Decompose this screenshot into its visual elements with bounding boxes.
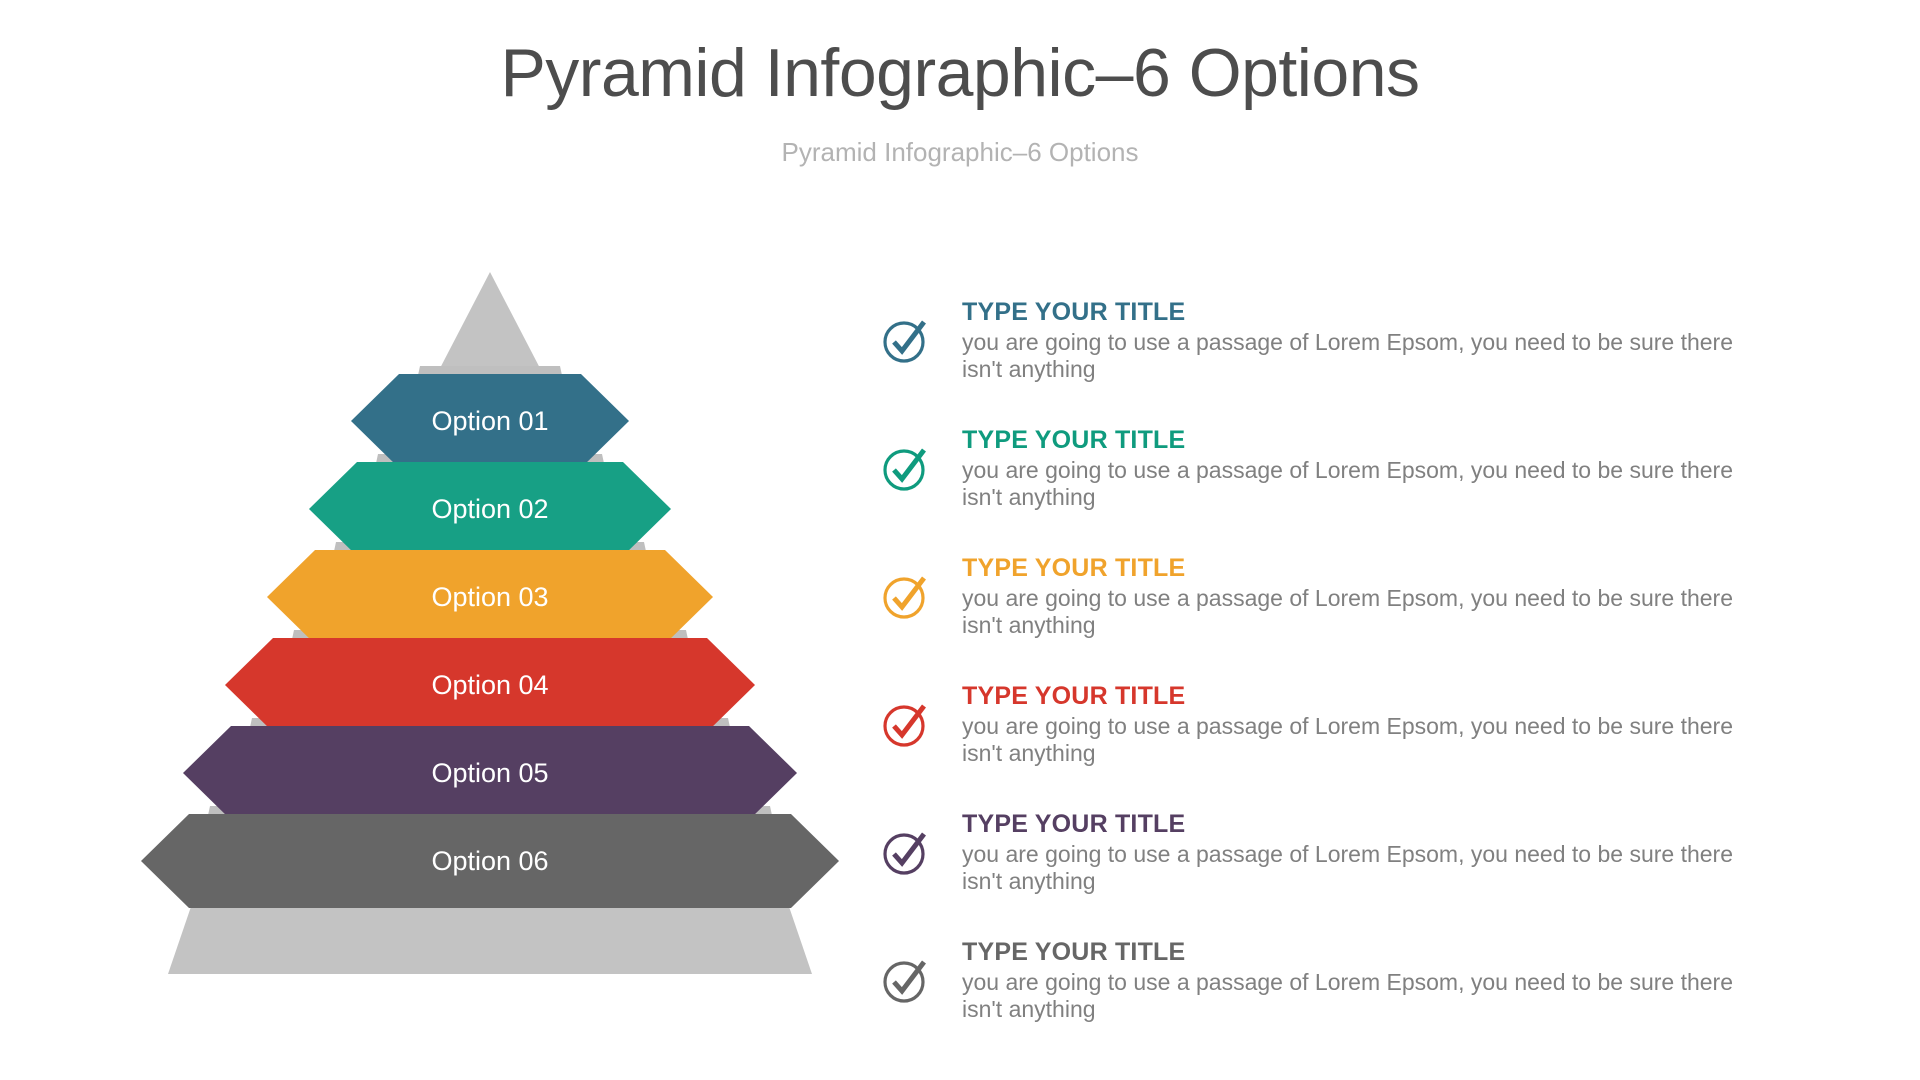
list-item-desc: you are going to use a passage of Lorem …	[962, 969, 1752, 1023]
svg-text:Option 03: Option 03	[431, 582, 548, 612]
pyramid-apex	[437, 272, 543, 374]
list-item-text: TYPE YOUR TITLE you are going to use a p…	[952, 425, 1752, 512]
pyramid-pane: Option 01 Option 02 Option 03 Option 04	[0, 262, 860, 1062]
list-item-desc: you are going to use a passage of Lorem …	[962, 841, 1752, 895]
list-item-title: TYPE YOUR TITLE	[962, 553, 1752, 584]
list-item-desc: you are going to use a passage of Lorem …	[962, 713, 1752, 767]
svg-text:Option 06: Option 06	[431, 846, 548, 876]
pyramid-bars: Option 01 Option 02 Option 03 Option 04	[141, 374, 839, 908]
list-item-desc: you are going to use a passage of Lorem …	[962, 585, 1752, 639]
list-item-text: TYPE YOUR TITLE you are going to use a p…	[952, 681, 1752, 768]
pyramid-level-2[interactable]: Option 02	[309, 462, 671, 556]
list-item[interactable]: TYPE YOUR TITLE you are going to use a p…	[860, 660, 1860, 788]
slide-body: Option 01 Option 02 Option 03 Option 04	[0, 262, 1920, 1062]
svg-text:Option 04: Option 04	[431, 670, 548, 700]
list-item[interactable]: TYPE YOUR TITLE you are going to use a p…	[860, 276, 1860, 404]
list-item-title: TYPE YOUR TITLE	[962, 297, 1752, 328]
list-item-title: TYPE YOUR TITLE	[962, 425, 1752, 456]
check-circle-icon	[860, 824, 952, 880]
page-title: Pyramid Infographic–6 Options	[0, 36, 1920, 111]
list-item-title: TYPE YOUR TITLE	[962, 681, 1752, 712]
list-item-text: TYPE YOUR TITLE you are going to use a p…	[952, 297, 1752, 384]
list-item[interactable]: TYPE YOUR TITLE you are going to use a p…	[860, 404, 1860, 532]
list-item[interactable]: TYPE YOUR TITLE you are going to use a p…	[860, 788, 1860, 916]
pyramid-chart: Option 01 Option 02 Option 03 Option 04	[0, 262, 860, 1022]
list-item-text: TYPE YOUR TITLE you are going to use a p…	[952, 937, 1752, 1024]
list-item-text: TYPE YOUR TITLE you are going to use a p…	[952, 553, 1752, 640]
pyramid-level-6[interactable]: Option 06	[141, 814, 839, 908]
svg-text:Option 02: Option 02	[431, 494, 548, 524]
pyramid-level-5[interactable]: Option 05	[183, 726, 797, 820]
list-item-title: TYPE YOUR TITLE	[962, 809, 1752, 840]
list-item[interactable]: TYPE YOUR TITLE you are going to use a p…	[860, 916, 1860, 1044]
pyramid-level-4[interactable]: Option 04	[225, 638, 755, 732]
svg-text:Option 05: Option 05	[431, 758, 548, 788]
pyramid-level-3[interactable]: Option 03	[267, 550, 713, 644]
check-circle-icon	[860, 952, 952, 1008]
pyramid-level-1[interactable]: Option 01	[351, 374, 629, 468]
list-item-desc: you are going to use a passage of Lorem …	[962, 329, 1752, 383]
svg-text:Option 01: Option 01	[431, 406, 548, 436]
list-item-title: TYPE YOUR TITLE	[962, 937, 1752, 968]
list-item[interactable]: TYPE YOUR TITLE you are going to use a p…	[860, 532, 1860, 660]
option-list: TYPE YOUR TITLE you are going to use a p…	[860, 262, 1920, 1062]
infographic-slide: Pyramid Infographic–6 Options Pyramid In…	[0, 0, 1920, 1080]
check-circle-icon	[860, 440, 952, 496]
page-subtitle: Pyramid Infographic–6 Options	[0, 137, 1920, 168]
list-item-desc: you are going to use a passage of Lorem …	[962, 457, 1752, 511]
check-circle-icon	[860, 568, 952, 624]
check-circle-icon	[860, 696, 952, 752]
slide-header: Pyramid Infographic–6 Options Pyramid In…	[0, 0, 1920, 168]
check-circle-icon	[860, 312, 952, 368]
list-item-text: TYPE YOUR TITLE you are going to use a p…	[952, 809, 1752, 896]
